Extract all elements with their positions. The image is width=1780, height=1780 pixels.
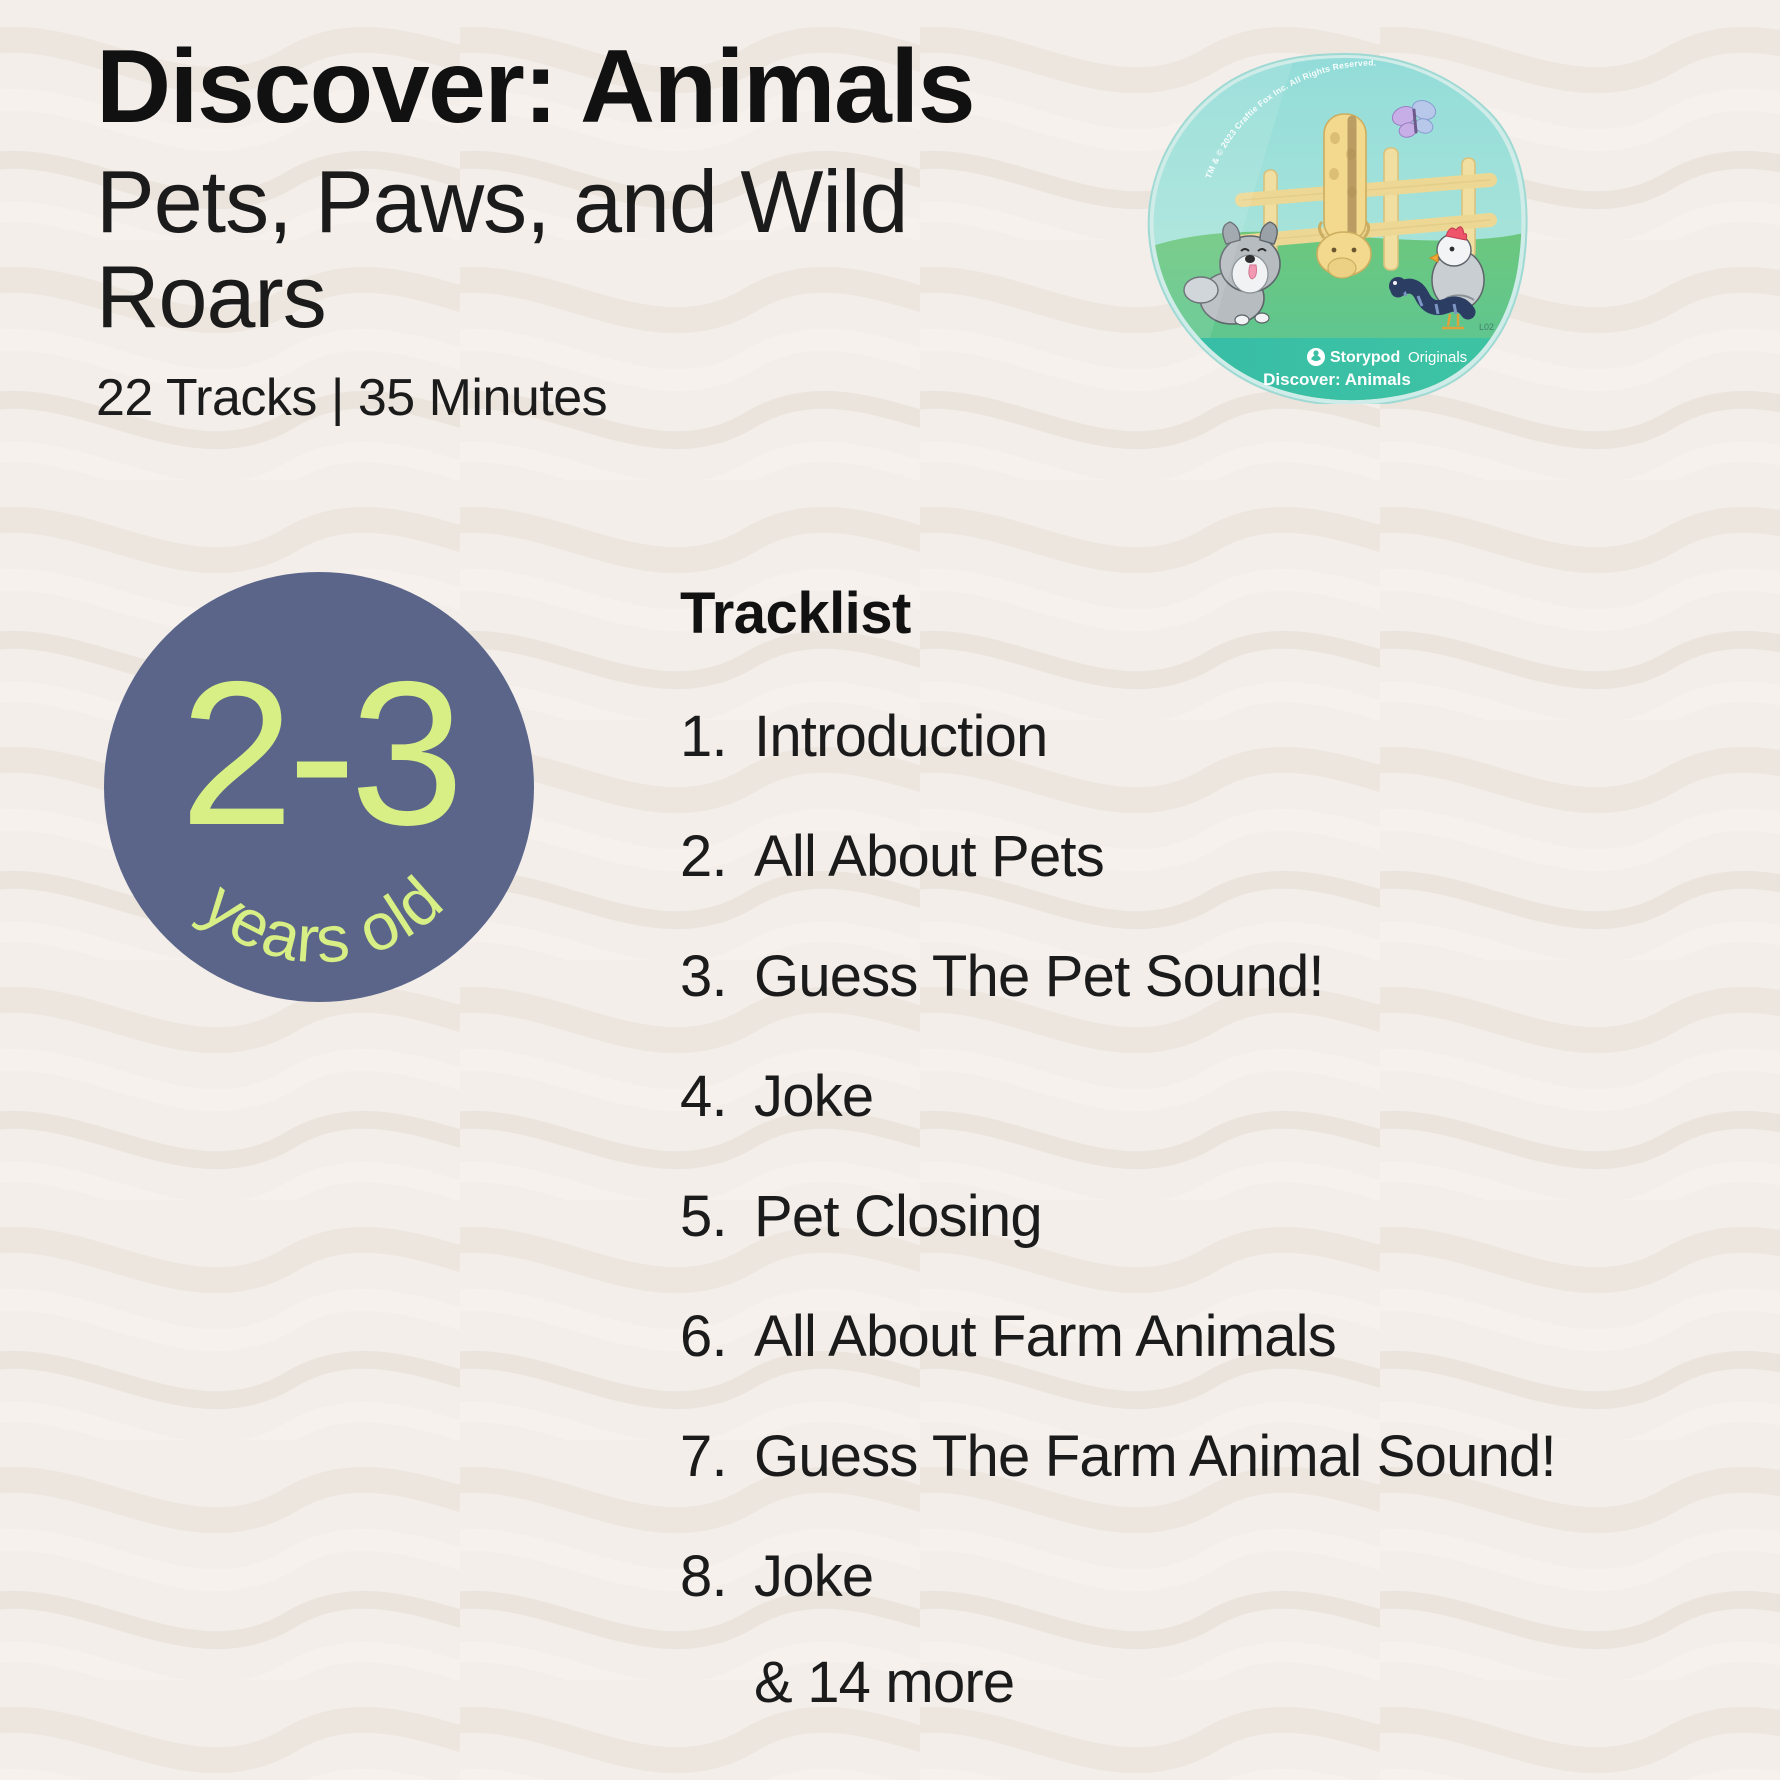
list-item: 4. Joke [680,1063,1760,1130]
list-item: 2. All About Pets [680,823,1760,890]
list-item: 1. Introduction [680,703,1760,770]
track-number: 6. [680,1303,754,1370]
track-number: 5. [680,1183,754,1250]
giraffe-illustration [1317,114,1371,278]
list-item: 3. Guess The Pet Sound! [680,943,1760,1010]
track-title: Joke [754,1063,873,1130]
age-range-value: 2-3 [180,639,458,868]
card-brand-row: Storypod Originals [1307,348,1467,366]
track-title: All About Pets [754,823,1104,890]
track-duration-meta: 22 Tracks | 35 Minutes [96,368,1156,428]
tracklist-section: Tracklist 1. Introduction 2. All About P… [680,580,1760,1716]
track-title: All About Farm Animals [754,1303,1336,1370]
tracklist-more-label: & 14 more [754,1649,1760,1716]
list-item: 5. Pet Closing [680,1183,1760,1250]
card-brand-suffix: Originals [1408,349,1467,366]
track-number: 8. [680,1543,754,1610]
product-card-artwork: TM & © 2023 Craftie Fox Inc. All Rights … [1146,52,1528,404]
age-range-badge: 2-3 years old [104,572,534,1002]
list-item: 6. All About Farm Animals [680,1303,1760,1370]
page-title: Discover: Animals [96,34,1156,140]
card-brand-name: Storypod [1330,349,1400,366]
card-title-label: Discover: Animals [1263,370,1411,389]
track-title: Introduction [754,703,1047,770]
track-title: Pet Closing [754,1183,1042,1250]
track-title: Guess The Farm Animal Sound! [754,1423,1556,1490]
list-item: 8. Joke [680,1543,1760,1610]
track-number: 2. [680,823,754,890]
tracklist-items: 1. Introduction 2. All About Pets 3. Gue… [680,703,1760,1610]
header-block: Discover: Animals Pets, Paws, and Wild R… [96,34,1156,428]
age-badge-graphic: 2-3 years old [104,572,534,1002]
card-code-label: L02 [1479,322,1494,332]
track-number: 7. [680,1423,754,1490]
track-number: 3. [680,943,754,1010]
track-number: 1. [680,703,754,770]
age-badge-years-old-label: years old [189,861,456,977]
product-card-thumbnail[interactable]: TM & © 2023 Craftie Fox Inc. All Rights … [1146,52,1528,404]
tracklist-heading: Tracklist [680,580,1760,647]
track-title: Joke [754,1543,873,1610]
promo-card-page: Discover: Animals Pets, Paws, and Wild R… [0,0,1780,1780]
track-number: 4. [680,1063,754,1130]
page-subtitle: Pets, Paws, and Wild Roars [96,154,1076,344]
track-title: Guess The Pet Sound! [754,943,1324,1010]
list-item: 7. Guess The Farm Animal Sound! [680,1423,1760,1490]
